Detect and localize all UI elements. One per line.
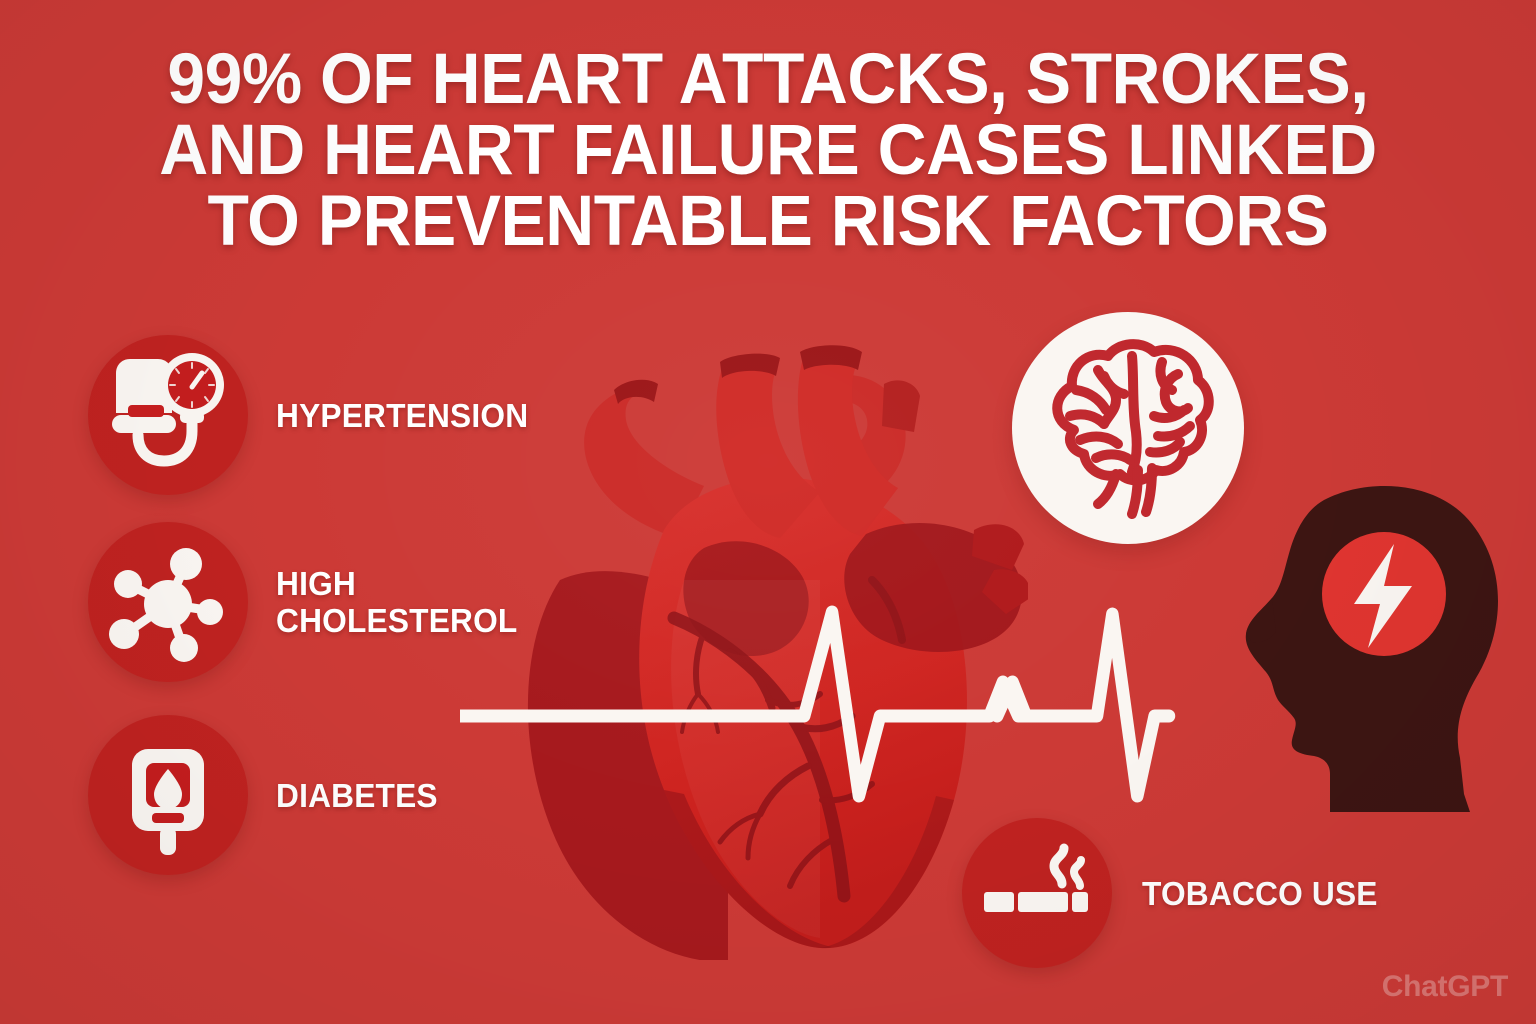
molecule-icon [88,522,248,682]
risk-factor-tobacco-use[interactable]: TOBACCO USE [962,818,1387,968]
brain-icon [1012,312,1244,544]
cigarette-icon [962,818,1112,968]
page-title: 99% OF HEART ATTACKS, STROKES, AND HEART… [35,44,1502,257]
ecg-heartbeat-line [460,590,1235,820]
risk-factor-label: DIABETES [276,777,438,814]
risk-factor-high-cholesterol[interactable]: HIGH CHOLESTEROL [88,522,528,682]
risk-factor-label: HIGH CHOLESTEROL [276,565,517,639]
risk-factor-hypertension[interactable]: HYPERTENSION [88,335,539,495]
risk-factor-diabetes[interactable]: DIABETES [88,715,444,875]
blood-pressure-monitor-icon [88,335,248,495]
headline-line-2: AND HEART FAILURE CASES LINKED [35,115,1502,186]
risk-factor-label: TOBACCO USE [1142,875,1378,912]
glucose-meter-icon [88,715,248,875]
headline-line-1: 99% OF HEART ATTACKS, STROKES, [35,44,1502,115]
infographic-poster: 99% OF HEART ATTACKS, STROKES, AND HEART… [0,0,1536,1024]
head-profile-with-lightning-bolt [1232,482,1536,812]
risk-factor-label: HYPERTENSION [276,397,528,434]
headline-line-3: TO PREVENTABLE RISK FACTORS [35,186,1502,257]
chatgpt-watermark: ChatGPT [1382,970,1508,1004]
